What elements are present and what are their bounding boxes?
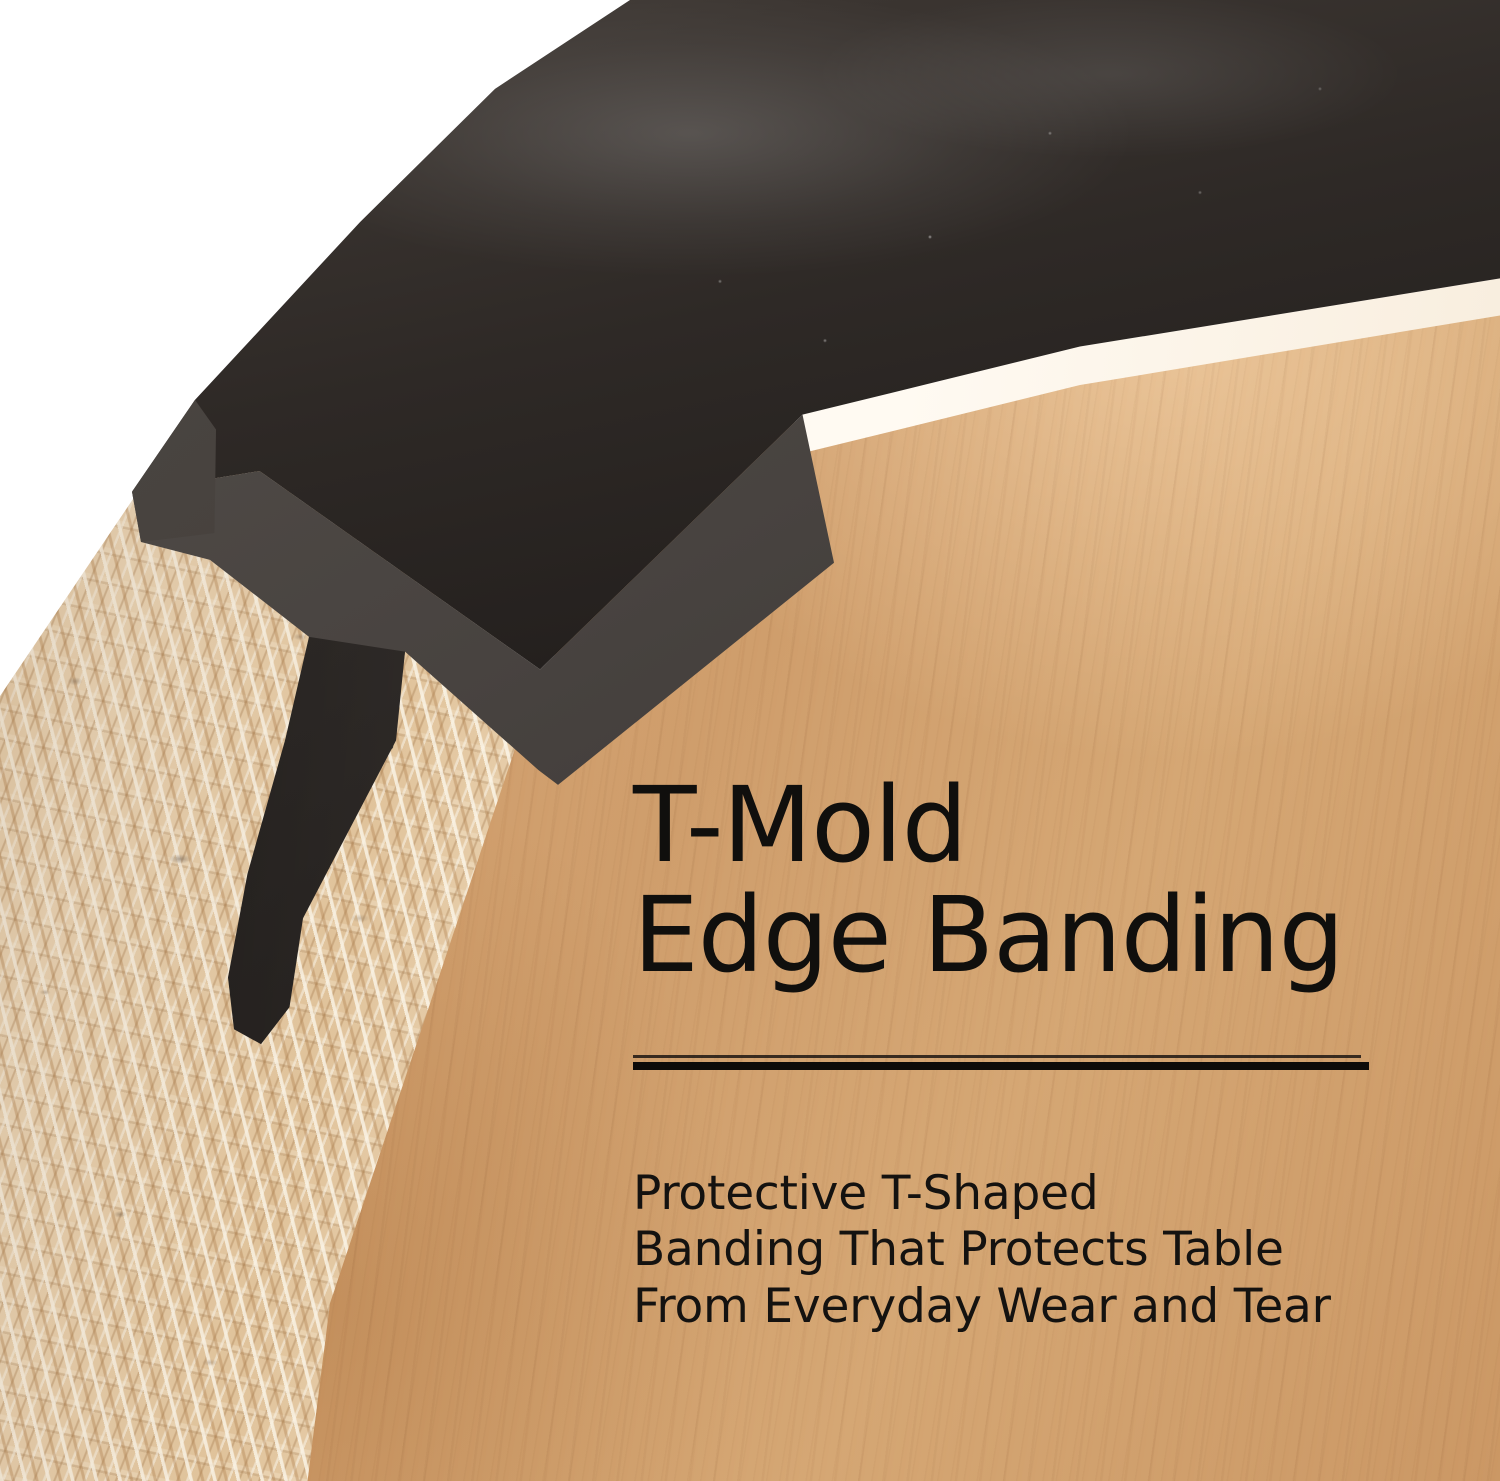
callout-body-text: Protective T-Shaped Banding That Protect… xyxy=(633,1166,1433,1335)
divider-thick-line xyxy=(633,1062,1369,1070)
divider xyxy=(633,1055,1361,1070)
page-title: T-Mold Edge Banding xyxy=(633,770,1433,990)
divider-thin-line xyxy=(633,1055,1361,1058)
callout-headline-block: T-Mold Edge Banding xyxy=(633,770,1433,990)
product-feature-image: T-Mold Edge Banding Protective T-Shaped … xyxy=(0,0,1500,1481)
